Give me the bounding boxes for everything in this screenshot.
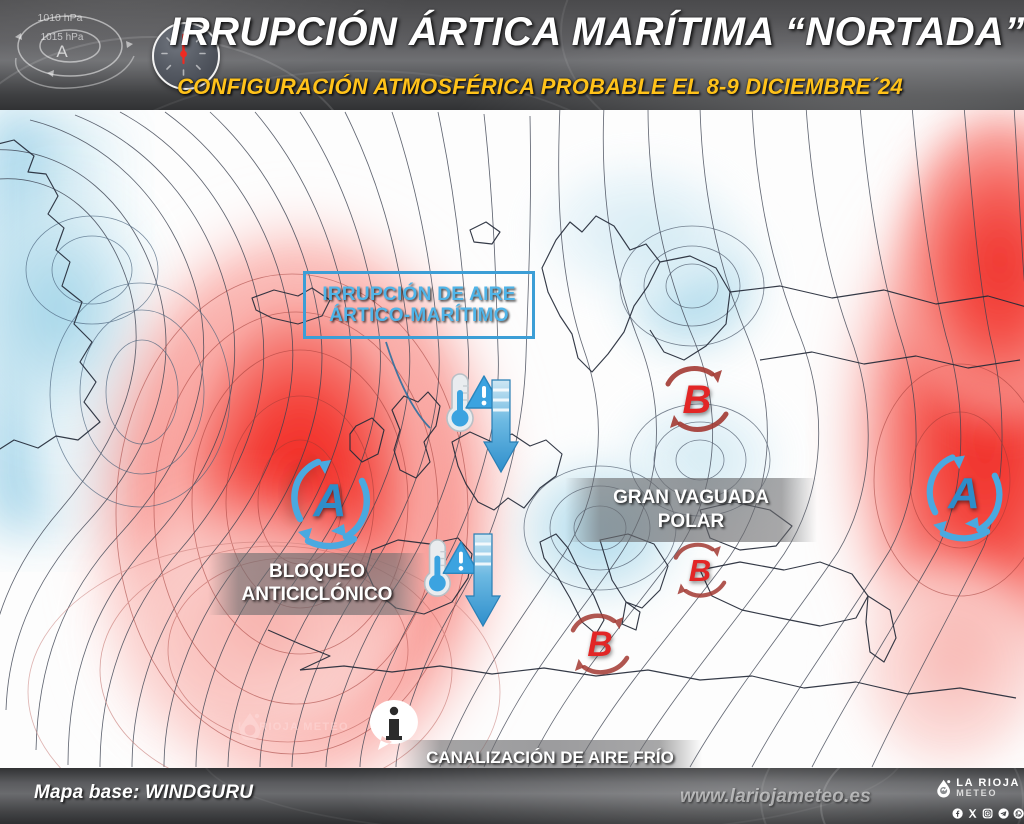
annotation-line: GRAN VAGUADA (613, 486, 769, 510)
footer-bar: Mapa base: WINDGURU www.lariojameteo.es … (0, 768, 1024, 824)
whatsapp-icon[interactable] (1013, 807, 1024, 820)
page-title: IRRUPCIÓN ÁRTICA MARÍTIMA “NORTADA” (170, 3, 1024, 61)
pressure-centre-high-east: A (914, 442, 1014, 546)
down-arrow-icon (464, 532, 502, 630)
weather-map[interactable]: A A (0, 110, 1024, 768)
annotation-line: POLAR (658, 510, 725, 534)
pressure-centre-low-tyrrhenian: B (560, 606, 640, 684)
down-arrow-icon (482, 378, 520, 476)
pressure-centre-low-baltic: B (654, 358, 740, 442)
annotation-irrupcion: IRRUPCIÓN DE AIRE ÁRTICO-MARÍTIMO (303, 271, 535, 339)
svg-text:1010 hPa: 1010 hPa (38, 12, 83, 24)
annotation-line: IRRUPCIÓN DE AIRE (322, 284, 515, 305)
social-links[interactable] (952, 805, 1024, 821)
annotation-bloqueo: BLOQUEO ANTICICLÓNICO (208, 553, 426, 615)
pressure-letter: A (278, 447, 382, 553)
droplet-logo-icon (238, 712, 262, 740)
pressure-centre-high-atlantic: A (278, 447, 382, 553)
base-map-credit: Mapa base: WINDGURU (34, 782, 253, 804)
header-bar: 1010 hPa 1015 hPa A (0, 0, 1024, 110)
brand-logo: LA RIOJA METEO (936, 773, 1020, 803)
infographic-root: 1010 hPa 1015 hPa A (0, 0, 1024, 824)
cold-warning-icon-group-north (436, 368, 526, 478)
instagram-icon[interactable] (982, 807, 993, 820)
annotation-canalizacion: CANALIZACIÓN DE AIRE FRÍO ENTRE EL ANTIC… (398, 740, 702, 768)
annotation-line: ANTICICLÓNICO (242, 584, 393, 607)
website-url[interactable]: www.lariojameteo.es (680, 786, 871, 808)
pressure-letter: B (560, 606, 640, 684)
brand-line-2: METEO (956, 789, 1020, 798)
annotation-vaguada: GRAN VAGUADA POLAR (565, 478, 817, 542)
map-watermark: LA RIOJA METEO (238, 712, 358, 744)
pressure-letter: B (664, 536, 736, 606)
pressure-centre-low-balkans: B (664, 536, 736, 606)
droplet-logo-icon (936, 774, 951, 802)
facebook-icon[interactable] (952, 807, 963, 820)
pressure-letter: A (914, 442, 1014, 546)
telegram-icon[interactable] (998, 807, 1009, 820)
annotation-line: BLOQUEO (269, 561, 365, 584)
svg-text:A: A (56, 42, 68, 61)
pressure-letter: B (654, 358, 740, 442)
annotation-line: CANALIZACIÓN DE AIRE FRÍO (426, 747, 674, 768)
page-subtitle: CONFIGURACIÓN ATMOSFÉRICA PROBABLE EL 8-… (120, 70, 960, 104)
annotation-line: ÁRTICO-MARÍTIMO (329, 305, 509, 326)
x-icon[interactable] (967, 807, 978, 820)
